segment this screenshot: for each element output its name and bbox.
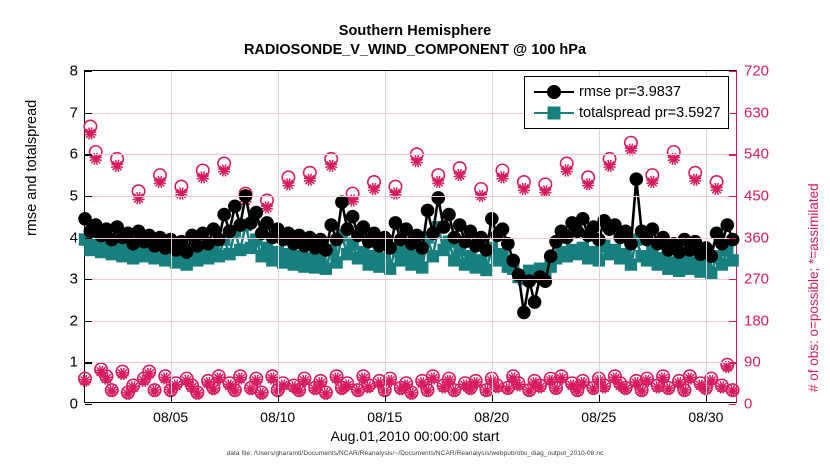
data-point: [582, 178, 594, 190]
y-tick-label-right: 180: [744, 312, 769, 329]
y-tick-label-left: 5: [70, 187, 78, 204]
data-point: [127, 252, 139, 264]
data-point: [427, 250, 439, 262]
data-point: [330, 256, 342, 268]
data-point: [325, 160, 337, 172]
y-tick-label-left: 2: [70, 312, 78, 329]
y-tick-label-left: 0: [70, 396, 78, 413]
data-point: [480, 264, 492, 276]
data-point: [448, 385, 460, 397]
x-tick-label: 08/15: [367, 409, 402, 425]
y-tick-mark-right: [729, 113, 736, 114]
data-point: [646, 176, 658, 188]
y-tick-mark-right: [729, 279, 736, 280]
data-point: [335, 195, 349, 209]
data-point: [223, 248, 235, 260]
y-tick-label-right: 270: [744, 271, 769, 288]
data-point: [421, 204, 435, 218]
y-tick-label-left: 4: [70, 229, 78, 246]
y-tick-mark-right: [729, 362, 736, 363]
chart-title: Southern Hemisphere RADIOSONDE_V_WIND_CO…: [0, 22, 830, 60]
data-point: [319, 243, 333, 257]
data-point: [432, 176, 444, 188]
square-marker-icon: [532, 104, 576, 122]
data-file-note: data file: /Users/gharamti/Documents/NCA…: [0, 450, 830, 457]
y-tick-label-left: 3: [70, 271, 78, 288]
data-point: [213, 250, 225, 262]
x-tick-mark: [599, 395, 600, 402]
data-point: [416, 261, 428, 273]
data-point: [518, 183, 530, 195]
y-tick-mark-left: [85, 279, 92, 280]
data-point: [501, 237, 515, 251]
y-tick-label-left: 1: [70, 354, 78, 371]
data-point: [133, 192, 145, 204]
y-tick-label-right: 630: [744, 104, 769, 121]
data-point: [384, 263, 396, 275]
y-tick-mark-left: [85, 362, 92, 363]
y-tick-mark-right: [729, 404, 736, 405]
data-point: [330, 233, 344, 247]
data-point: [506, 254, 520, 268]
gridline-vertical: [278, 71, 279, 402]
data-point: [528, 295, 542, 309]
y-tick-mark-left: [85, 238, 92, 239]
data-point: [368, 183, 380, 195]
data-point: [84, 127, 96, 139]
y-tick-mark-left: [85, 71, 92, 72]
data-point: [180, 258, 192, 270]
chart-title-line1: Southern Hemisphere: [0, 22, 830, 41]
y-tick-mark-right: [729, 71, 736, 72]
data-point: [282, 178, 294, 190]
data-point: [437, 220, 451, 234]
data-point: [389, 188, 401, 200]
data-point: [234, 244, 246, 256]
data-point: [454, 169, 466, 181]
gridline-horizontal: [85, 321, 736, 322]
data-point: [727, 385, 739, 397]
y-tick-label-right: 720: [744, 63, 769, 80]
y-tick-mark-right: [729, 321, 736, 322]
x-tick-mark: [706, 395, 707, 402]
circle-marker-icon: [532, 83, 576, 101]
y-tick-mark-left: [85, 113, 92, 114]
chart-legend: rmse pr=3.9837totalspread pr=3.5927: [524, 76, 729, 129]
x-axis-label: Aug.01,2010 00:00:00 start: [0, 428, 830, 444]
data-point: [352, 385, 364, 397]
x-tick-label: 08/25: [581, 409, 616, 425]
data-point: [716, 258, 728, 270]
y-tick-label-right: 540: [744, 146, 769, 163]
data-point: [324, 218, 338, 232]
y-tick-mark-right: [729, 196, 736, 197]
chart-title-line2: RADIOSONDE_V_WIND_COMPONENT @ 100 hPa: [0, 41, 830, 60]
data-point: [726, 233, 740, 247]
y-tick-label-right: 0: [744, 396, 752, 413]
y-tick-mark-right: [729, 238, 736, 239]
data-point: [411, 155, 423, 167]
legend-label: totalspread pr=3.5927: [579, 105, 720, 121]
y-tick-mark-left: [85, 404, 92, 405]
data-point: [217, 208, 231, 222]
y-axis-left-label: rmse and totalspread: [24, 100, 40, 236]
y-tick-mark-right: [729, 154, 736, 155]
y-tick-label-right: 450: [744, 187, 769, 204]
data-point: [442, 208, 456, 222]
data-point: [154, 176, 166, 188]
gridline-horizontal: [85, 279, 736, 280]
y-tick-label-left: 8: [70, 63, 78, 80]
data-point: [202, 252, 214, 264]
x-tick-mark: [385, 395, 386, 402]
legend-item-rmse[interactable]: rmse pr=3.9837: [532, 81, 720, 102]
data-point: [678, 385, 690, 397]
y-tick-label-left: 6: [70, 146, 78, 163]
data-point: [346, 210, 360, 224]
data-point: [149, 385, 161, 397]
data-point: [625, 258, 637, 270]
data-point: [422, 385, 434, 397]
data-point: [711, 183, 723, 195]
data-point: [517, 306, 531, 320]
data-point: [249, 206, 263, 220]
data-point: [191, 254, 203, 266]
data-point: [431, 191, 445, 205]
x-tick-label: 08/20: [474, 409, 509, 425]
data-point: [705, 267, 717, 279]
data-point: [218, 164, 230, 176]
gridline-vertical: [171, 71, 172, 402]
x-tick-mark: [171, 395, 172, 402]
data-point: [624, 237, 638, 251]
data-point: [646, 222, 660, 236]
data-point: [496, 222, 510, 236]
data-point: [304, 174, 316, 186]
data-point: [689, 174, 701, 186]
data-point: [604, 160, 616, 172]
y-tick-mark-left: [85, 154, 92, 155]
data-point: [539, 274, 553, 288]
data-point: [175, 188, 187, 200]
y-axis-right-label: # of obs: o=possible; *=assimilated: [806, 183, 821, 392]
data-point: [576, 212, 590, 226]
data-point: [106, 385, 118, 397]
gridline-horizontal: [85, 196, 736, 197]
x-tick-mark: [278, 395, 279, 402]
y-tick-label-right: 360: [744, 229, 769, 246]
gridline-horizontal: [85, 154, 736, 155]
data-point: [228, 199, 242, 213]
data-point: [619, 224, 633, 238]
y-tick-label-right: 90: [744, 354, 761, 371]
gridline-horizontal: [85, 238, 736, 239]
y-tick-mark-left: [85, 321, 92, 322]
gridline-vertical: [385, 71, 386, 402]
data-point: [212, 233, 226, 247]
x-tick-label: 08/30: [688, 409, 723, 425]
data-point: [497, 171, 509, 183]
data-point: [561, 164, 573, 176]
figure-canvas: Southern Hemisphere RADIOSONDE_V_WIND_CO…: [0, 0, 830, 470]
data-point: [630, 172, 644, 186]
y-tick-label-left: 7: [70, 104, 78, 121]
data-point: [111, 160, 123, 172]
data-point: [197, 171, 209, 183]
x-tick-mark: [492, 395, 493, 402]
legend-item-totalspread[interactable]: totalspread pr=3.5927: [532, 102, 720, 123]
y-tick-mark-left: [85, 196, 92, 197]
legend-label: rmse pr=3.9837: [579, 84, 681, 100]
data-point: [410, 229, 424, 243]
data-point: [544, 249, 558, 263]
gridline-horizontal: [85, 362, 736, 363]
x-tick-label: 08/05: [153, 409, 188, 425]
data-point: [415, 241, 429, 255]
data-point: [726, 254, 738, 266]
x-tick-label: 08/10: [260, 409, 295, 425]
data-point: [720, 218, 734, 232]
gridline-vertical: [492, 71, 493, 402]
data-point: [320, 263, 332, 275]
